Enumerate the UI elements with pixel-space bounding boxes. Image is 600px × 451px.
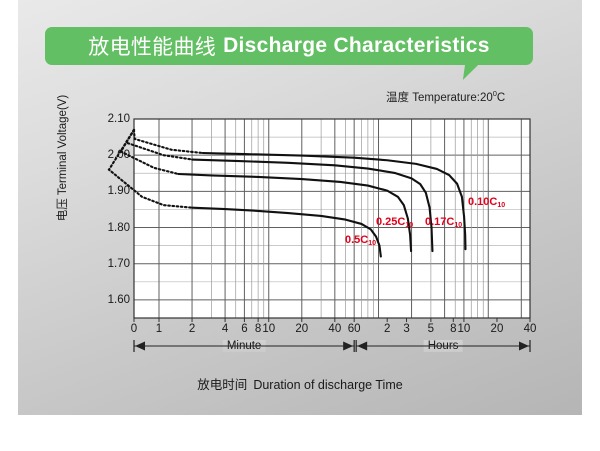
curve-label-subscript: 10 bbox=[368, 240, 376, 247]
curve-label-0-10C: 0.10C10 bbox=[468, 196, 505, 208]
curve-label-0-25C: 0.25C10 bbox=[376, 216, 413, 228]
chart-page: 放电性能曲线 Discharge Characteristics 温度 Temp… bbox=[0, 0, 600, 451]
curve-label-text: 0.5C bbox=[345, 234, 368, 246]
curve-label-text: 0.10C bbox=[468, 196, 497, 208]
curve-label-text: 0.25C bbox=[376, 216, 405, 228]
curve-label-0-5C: 0.5C10 bbox=[345, 234, 376, 246]
curve-label-0-17C: 0.17C10 bbox=[425, 216, 462, 228]
curve-label-subscript: 10 bbox=[454, 222, 462, 229]
curve-label-subscript: 10 bbox=[497, 202, 505, 209]
plot-area bbox=[0, 0, 600, 451]
curve-label-text: 0.17C bbox=[425, 216, 454, 228]
curve-label-subscript: 10 bbox=[405, 222, 413, 229]
